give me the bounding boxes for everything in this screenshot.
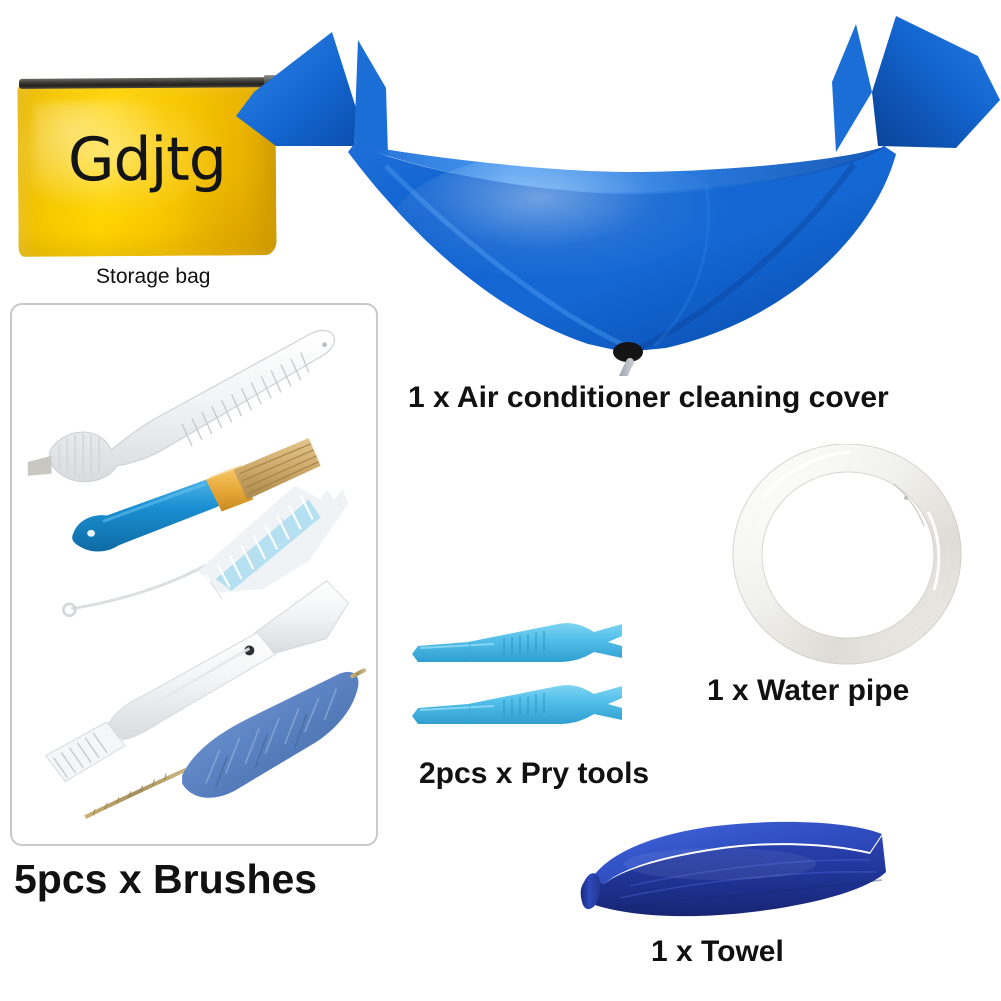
product-collage: Gdjtg Storage bag <box>0 0 1001 1001</box>
caption-brushes: 5pcs x Brushes <box>14 856 317 903</box>
cover-fin-inner-left <box>354 40 388 156</box>
cover-sheen <box>391 152 741 304</box>
brush-4-flat-brush-with-paddle <box>46 581 349 782</box>
caption-storage-bag: Storage bag <box>96 265 210 289</box>
brush-5-cone-radiator-brush <box>85 670 364 817</box>
towel-illustration <box>570 812 892 936</box>
pry-tools-image <box>408 612 688 734</box>
pry-tools-illustration <box>408 612 688 734</box>
water-pipe-illustration <box>722 444 972 666</box>
caption-towel: 1 x Towel <box>651 935 784 969</box>
brushes-illustration <box>12 305 376 844</box>
caption-cover: 1 x Air conditioner cleaning cover <box>408 381 889 415</box>
water-pipe-image <box>722 444 972 666</box>
cover-corner-left <box>236 32 356 146</box>
brushes-panel <box>10 303 378 846</box>
caption-pry-tools: 2pcs x Pry tools <box>419 757 649 791</box>
cover-fin-inner-right <box>832 24 872 152</box>
pry-tool-upper <box>412 623 622 662</box>
caption-water-pipe: 1 x Water pipe <box>707 674 909 708</box>
pry-tool-lower <box>412 685 622 724</box>
towel-image <box>570 812 892 936</box>
cover-drain-hose <box>614 362 664 376</box>
cover-corner-right <box>872 16 1000 148</box>
